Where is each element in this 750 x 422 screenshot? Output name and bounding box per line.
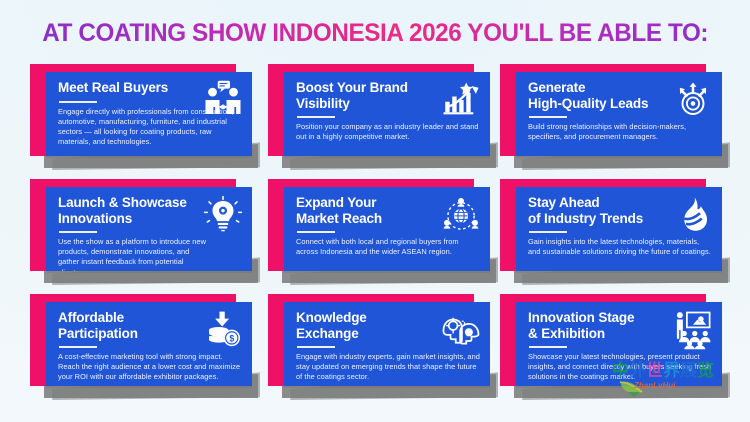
two-heads-idea-icon: [440, 310, 482, 350]
card-blue-panel: Stay Ahead of Industry Trends Gain insig…: [516, 187, 722, 271]
card-body: Connect with both local and regional buy…: [296, 237, 480, 257]
card-title-line1: Knowledge: [296, 310, 436, 326]
card-divider: [297, 231, 335, 233]
presentation-audience-icon: [672, 310, 714, 350]
card-title-line1: Launch & Showcase: [58, 195, 198, 211]
benefit-card-7[interactable]: Knowledge Exchange Engage with industry …: [268, 288, 490, 392]
bar-chart-growth-star-icon: [440, 80, 482, 120]
coins-down-arrow-icon: $: [202, 310, 244, 350]
card-blue-panel: Boost Your Brand Visibility Position you…: [284, 72, 490, 156]
card-divider: [529, 231, 567, 233]
benefit-card-6[interactable]: Affordable Participation A cost-effectiv…: [30, 288, 252, 392]
card-divider: [59, 231, 97, 233]
card-title-line2: High-Quality Leads: [528, 96, 668, 112]
card-divider: [297, 116, 335, 118]
handshake-chat-icon: [202, 80, 244, 120]
card-title-line1: Boost Your Brand: [296, 80, 436, 96]
card-title-line2: Exchange: [296, 326, 436, 342]
card-body: Engage with industry experts, gain marke…: [296, 352, 480, 383]
card-title-line1: Innovation Stage: [528, 310, 668, 326]
card-title-line1: Expand Your: [296, 195, 436, 211]
card-blue-panel: Meet Real Buyers Engage directly with pr…: [46, 72, 252, 156]
card-title-line1: Affordable: [58, 310, 198, 326]
card-title-line1: Meet Real Buyers: [58, 80, 198, 96]
card-blue-panel: Affordable Participation A cost-effectiv…: [46, 302, 252, 386]
card-blue-panel: Launch & Showcase Innovations Use the sh…: [46, 187, 252, 271]
card-title-line2: Innovations: [58, 211, 198, 227]
benefit-card-1[interactable]: Boost Your Brand Visibility Position you…: [268, 58, 490, 162]
card-title-line2: & Exhibition: [528, 326, 668, 342]
infographic-canvas: AT COATING SHOW INDONESIA 2026 YOU'LL BE…: [0, 0, 750, 422]
benefit-card-0[interactable]: Meet Real Buyers Engage directly with pr…: [30, 58, 252, 162]
card-body: Use the show as a platform to introduce …: [58, 237, 208, 271]
card-title-line2: Visibility: [296, 96, 436, 112]
card-title-line2: Market Reach: [296, 211, 436, 227]
card-title-line1: Stay Ahead: [528, 195, 668, 211]
benefit-card-3[interactable]: Launch & Showcase Innovations Use the sh…: [30, 173, 252, 277]
card-blue-panel: Expand Your Market Reach Connect with bo…: [284, 187, 490, 271]
heading-container: AT COATING SHOW INDONESIA 2026 YOU'LL BE…: [0, 18, 750, 48]
target-arrows-icon: [672, 80, 714, 120]
globe-network-icon: [440, 195, 482, 235]
lightbulb-gear-icon: [202, 195, 244, 235]
card-divider: [297, 346, 335, 348]
flame-trend-icon: [672, 195, 714, 235]
card-divider: [529, 116, 567, 118]
card-divider: [529, 346, 567, 348]
page-title: AT COATING SHOW INDONESIA 2026 YOU'LL BE…: [42, 18, 708, 48]
card-title-line2: Participation: [58, 326, 198, 342]
benefit-card-8[interactable]: Innovation Stage & Exhibition Showcase y…: [500, 288, 722, 392]
card-title-line1: Generate: [528, 80, 668, 96]
card-blue-panel: Generate High-Quality Leads Build strong…: [516, 72, 722, 156]
card-body: A cost-effective marketing tool with str…: [58, 352, 242, 383]
benefits-grid: Meet Real Buyers Engage directly with pr…: [0, 58, 750, 408]
card-body: Build strong relationships with decision…: [528, 122, 712, 142]
card-blue-panel: Innovation Stage & Exhibition Showcase y…: [516, 302, 722, 386]
benefit-card-4[interactable]: Expand Your Market Reach Connect with bo…: [268, 173, 490, 277]
benefit-card-2[interactable]: Generate High-Quality Leads Build strong…: [500, 58, 722, 162]
card-blue-panel: Knowledge Exchange Engage with industry …: [284, 302, 490, 386]
benefit-card-5[interactable]: Stay Ahead of Industry Trends Gain insig…: [500, 173, 722, 277]
svg-text:$: $: [229, 334, 234, 344]
card-body: Gain insights into the latest technologi…: [528, 237, 712, 257]
card-title-line2: of Industry Trends: [528, 211, 668, 227]
card-body: Showcase your latest technologies, prese…: [528, 352, 712, 383]
card-divider: [59, 101, 97, 103]
card-divider: [59, 346, 97, 348]
card-body: Position your company as an industry lea…: [296, 122, 480, 142]
